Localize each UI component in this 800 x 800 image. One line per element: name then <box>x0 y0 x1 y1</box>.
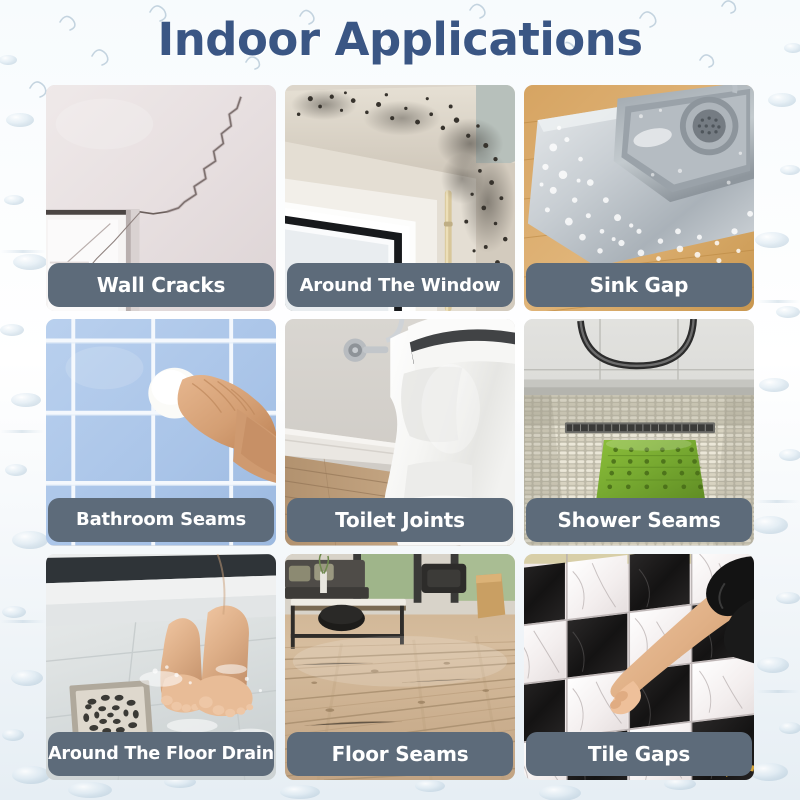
application-card-tile-gaps[interactable]: Tile Gaps <box>524 554 754 780</box>
card-label-bar: Sink Gap <box>526 263 752 307</box>
card-label-bar: Shower Seams <box>526 498 752 542</box>
card-label: Wall Cracks <box>93 273 229 297</box>
application-card-sink-gap[interactable]: Sink Gap <box>524 85 754 311</box>
card-label-bar: Floor Seams <box>287 732 513 776</box>
application-card-bathroom-seams[interactable]: Bathroom Seams <box>46 319 276 545</box>
application-card-around-the-floor-drain[interactable]: Around The Floor Drain <box>46 554 276 780</box>
card-label: Floor Seams <box>328 742 473 766</box>
card-label-bar: Around The Floor Drain <box>48 732 274 776</box>
card-label: Tile Gaps <box>584 742 694 766</box>
infographic-page: Indoor Applications <box>0 0 800 800</box>
application-card-wall-cracks[interactable]: Wall Cracks <box>46 85 276 311</box>
card-label: Toilet Joints <box>331 508 469 532</box>
card-label: Around The Window <box>296 275 505 296</box>
card-label: Shower Seams <box>553 508 724 532</box>
card-label-bar: Toilet Joints <box>287 498 513 542</box>
card-label-bar: Around The Window <box>287 263 513 307</box>
card-label: Sink Gap <box>586 273 692 297</box>
card-label-bar: Tile Gaps <box>526 732 752 776</box>
application-card-shower-seams[interactable]: Shower Seams <box>524 319 754 545</box>
application-card-floor-seams[interactable]: Floor Seams <box>285 554 515 780</box>
card-label: Bathroom Seams <box>72 509 250 530</box>
card-label-bar: Bathroom Seams <box>48 498 274 542</box>
application-card-toilet-joints[interactable]: Toilet Joints <box>285 319 515 545</box>
page-title: Indoor Applications <box>158 13 643 66</box>
card-label: Around The Floor Drain <box>46 744 276 764</box>
application-card-around-the-window[interactable]: Around The Window <box>285 85 515 311</box>
applications-grid: Wall Cracks <box>46 85 754 780</box>
title-bar: Indoor Applications <box>0 0 800 78</box>
card-label-bar: Wall Cracks <box>48 263 274 307</box>
